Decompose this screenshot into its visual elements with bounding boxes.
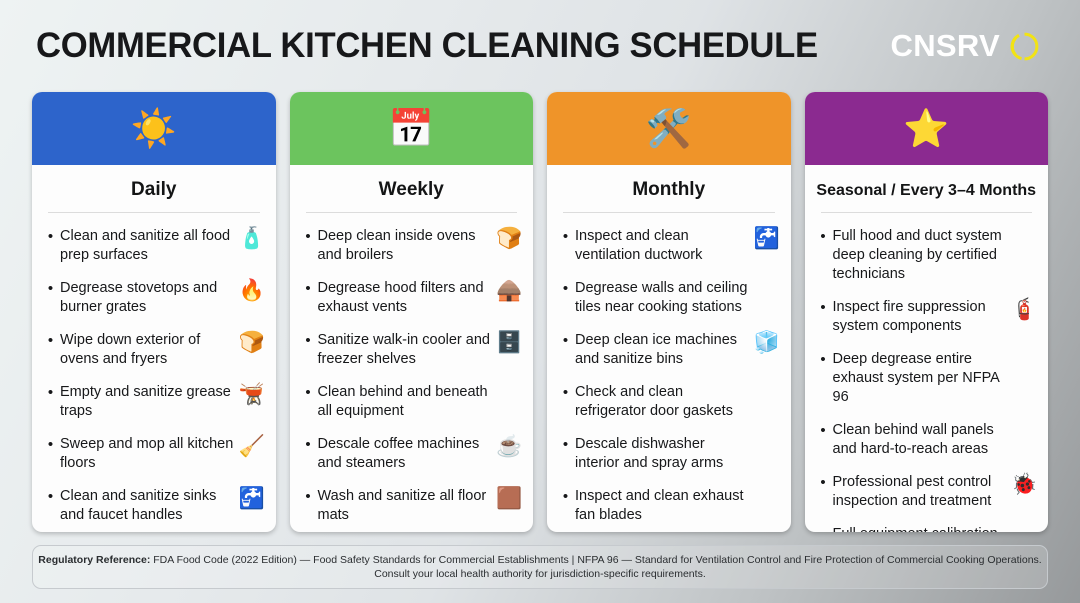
bullet-icon: • <box>303 487 314 506</box>
schedule-card-seasonal: ⭐ Seasonal / Every 3–4 Months • Full hoo… <box>805 92 1049 532</box>
oven-icon: 🍞 <box>496 228 520 249</box>
page-header: COMMERCIAL KITCHEN CLEANING SCHEDULE CNS… <box>32 0 1048 92</box>
coffee-machine-icon: ☕ <box>496 436 520 457</box>
list-item: • Degrease walls and ceiling tiles near … <box>560 279 778 317</box>
bullet-icon: • <box>303 227 314 246</box>
list-item: • Clean behind and beneath all equipment <box>303 383 521 421</box>
task-text: Descale coffee machines and steamers <box>318 435 493 473</box>
task-list-weekly: • Deep clean inside ovens and broilers 🍞… <box>290 213 534 532</box>
task-text: Inspect fire suppression system componen… <box>833 298 1008 336</box>
task-text: Degrease walls and ceiling tiles near co… <box>575 279 750 317</box>
task-text: Deep clean inside ovens and broilers <box>318 227 493 265</box>
list-item: • Inspect fire suppression system compon… <box>818 298 1036 336</box>
list-item: • Full equipment calibration and mainten… <box>818 525 1036 532</box>
card-header-seasonal: ⭐ <box>805 92 1049 165</box>
list-item: • Degrease stovetops and burner grates 🔥 <box>45 279 263 317</box>
schedule-card-daily: ☀️ Daily • Clean and sanitize all food p… <box>32 92 276 532</box>
sun-icon: ☀️ <box>131 110 177 147</box>
bullet-icon: • <box>560 227 571 246</box>
bullet-icon: • <box>560 331 571 350</box>
footer-line-1: Regulatory Reference: FDA Food Code (202… <box>38 553 1041 567</box>
list-item: • Check and clean refrigerator door gask… <box>560 383 778 421</box>
list-item: • Sanitize walk-in cooler and freezer sh… <box>303 331 521 369</box>
footer-reference-text: FDA Food Code (2022 Edition) — Food Safe… <box>150 554 1041 566</box>
schedule-columns: ☀️ Daily • Clean and sanitize all food p… <box>32 92 1048 532</box>
pest-beetle-icon: 🐞 <box>1011 474 1035 495</box>
task-text: Check and clean refrigerator door gasket… <box>575 383 750 421</box>
list-item: • Professional pest control inspection a… <box>818 473 1036 511</box>
card-header-monthly: 🛠️ <box>547 92 791 165</box>
infographic-page: COMMERCIAL KITCHEN CLEANING SCHEDULE CNS… <box>0 0 1080 603</box>
range-hood-icon: 🛖 <box>496 280 520 301</box>
list-item: • Degrease hood filters and exhaust vent… <box>303 279 521 317</box>
bullet-icon: • <box>303 331 314 350</box>
task-list-daily: • Clean and sanitize all food prep surfa… <box>32 213 276 532</box>
hammer-and-wrench-icon: 🛠️ <box>646 110 692 147</box>
task-text: Full hood and duct system deep cleaning … <box>833 227 1008 284</box>
regulatory-footer: Regulatory Reference: FDA Food Code (202… <box>32 545 1048 589</box>
task-text: Degrease hood filters and exhaust vents <box>318 279 493 317</box>
ice-machine-icon: 🧊 <box>754 332 778 353</box>
schedule-card-monthly: 🛠️ Monthly • Inspect and clean ventilati… <box>547 92 791 532</box>
card-header-daily: ☀️ <box>32 92 276 165</box>
fire-extinguisher-icon: 🧯 <box>1011 299 1035 320</box>
broom-icon: 🧹 <box>239 436 263 457</box>
list-item: • Full hood and duct system deep cleanin… <box>818 227 1036 284</box>
card-title-seasonal: Seasonal / Every 3–4 Months <box>805 165 1049 212</box>
list-item: • Wash and sanitize all floor mats 🟫 <box>303 487 521 525</box>
brand-logo: CNSRV <box>891 28 1044 64</box>
list-item: • Empty and sanitize grease traps 🫕 <box>45 383 263 421</box>
list-item: • Inspect and clean exhaust fan blades <box>560 487 778 525</box>
task-text: Sanitize walk-in cooler and freezer shel… <box>318 331 493 369</box>
task-text: Clean and sanitize all food prep surface… <box>60 227 235 265</box>
task-text: Sweep and mop all kitchen floors <box>60 435 235 473</box>
shelving-rack-icon: 🗄️ <box>496 332 520 353</box>
floor-mat-icon: 🟫 <box>496 488 520 509</box>
task-text: Inspect and clean ventilation ductwork <box>575 227 750 265</box>
task-text: Professional pest control inspection and… <box>833 473 1008 511</box>
grease-trap-pot-icon: 🫕 <box>239 384 263 405</box>
list-item: • Clean and sanitize all food prep surfa… <box>45 227 263 265</box>
list-item: • Sweep and mop all kitchen floors 🧹 <box>45 435 263 473</box>
ring-arcs-icon <box>1009 31 1040 62</box>
list-item: • Deep degrease entire exhaust system pe… <box>818 350 1036 407</box>
bullet-icon: • <box>45 279 56 298</box>
card-title-daily: Daily <box>32 165 276 212</box>
task-text: Clean behind wall panels and hard-to-rea… <box>833 421 1008 459</box>
bullet-icon: • <box>45 383 56 402</box>
bullet-icon: • <box>560 487 571 506</box>
task-text: Full equipment calibration and maintenan… <box>833 525 1008 532</box>
task-text: Degrease stovetops and burner grates <box>60 279 235 317</box>
stove-burner-icon: 🔥 <box>239 280 263 301</box>
task-text: Deep clean ice machines and sanitize bin… <box>575 331 750 369</box>
list-item: • Descale dishwasher interior and spray … <box>560 435 778 473</box>
star-icon: ⭐ <box>903 110 949 147</box>
bullet-icon: • <box>560 279 571 298</box>
task-text: Descale dishwasher interior and spray ar… <box>575 435 750 473</box>
sink-faucet-icon: 🚰 <box>239 488 263 509</box>
footer-line-2: Consult your local health authority for … <box>374 567 705 581</box>
bullet-icon: • <box>818 421 829 440</box>
brand-name: CNSRV <box>891 28 1000 64</box>
oven-icon: 🍞 <box>239 332 263 353</box>
bullet-icon: • <box>818 298 829 317</box>
task-list-monthly: • Inspect and clean ventilation ductwork… <box>547 213 791 532</box>
list-item: • Clean behind wall panels and hard-to-r… <box>818 421 1036 459</box>
list-item: • Inspect and clean ventilation ductwork… <box>560 227 778 265</box>
bullet-icon: • <box>818 227 829 246</box>
task-text: Wipe down exterior of ovens and fryers <box>60 331 235 369</box>
spray-bottle-icon: 🧴 <box>239 228 263 249</box>
task-text: Clean behind and beneath all equipment <box>318 383 493 421</box>
task-text: Clean and sanitize sinks and faucet hand… <box>60 487 235 525</box>
list-item: • Wipe down exterior of ovens and fryers… <box>45 331 263 369</box>
bullet-icon: • <box>560 383 571 402</box>
duct-pipe-icon: 🚰 <box>754 228 778 249</box>
card-title-monthly: Monthly <box>547 165 791 212</box>
bullet-icon: • <box>45 331 56 350</box>
bullet-icon: • <box>45 435 56 454</box>
task-text: Deep degrease entire exhaust system per … <box>833 350 1008 407</box>
footer-label: Regulatory Reference: <box>38 554 150 566</box>
task-list-seasonal: • Full hood and duct system deep cleanin… <box>805 213 1049 532</box>
list-item: • Clean and sanitize sinks and faucet ha… <box>45 487 263 525</box>
task-text: Wash and sanitize all floor mats <box>318 487 493 525</box>
list-item: • Descale coffee machines and steamers ☕ <box>303 435 521 473</box>
task-text: Empty and sanitize grease traps <box>60 383 235 421</box>
card-title-weekly: Weekly <box>290 165 534 212</box>
bullet-icon: • <box>818 525 829 532</box>
bullet-icon: • <box>303 435 314 454</box>
card-header-weekly: 📅 <box>290 92 534 165</box>
calendar-icon: 📅 <box>388 110 434 147</box>
bullet-icon: • <box>560 435 571 454</box>
list-item: • Deep clean ice machines and sanitize b… <box>560 331 778 369</box>
bullet-icon: • <box>818 350 829 369</box>
task-text: Inspect and clean exhaust fan blades <box>575 487 750 525</box>
schedule-card-weekly: 📅 Weekly • Deep clean inside ovens and b… <box>290 92 534 532</box>
bullet-icon: • <box>45 487 56 506</box>
bullet-icon: • <box>818 473 829 492</box>
bullet-icon: • <box>303 279 314 298</box>
bullet-icon: • <box>45 227 56 246</box>
page-title: COMMERCIAL KITCHEN CLEANING SCHEDULE <box>36 26 818 66</box>
bullet-icon: • <box>303 383 314 402</box>
list-item: • Deep clean inside ovens and broilers 🍞 <box>303 227 521 265</box>
